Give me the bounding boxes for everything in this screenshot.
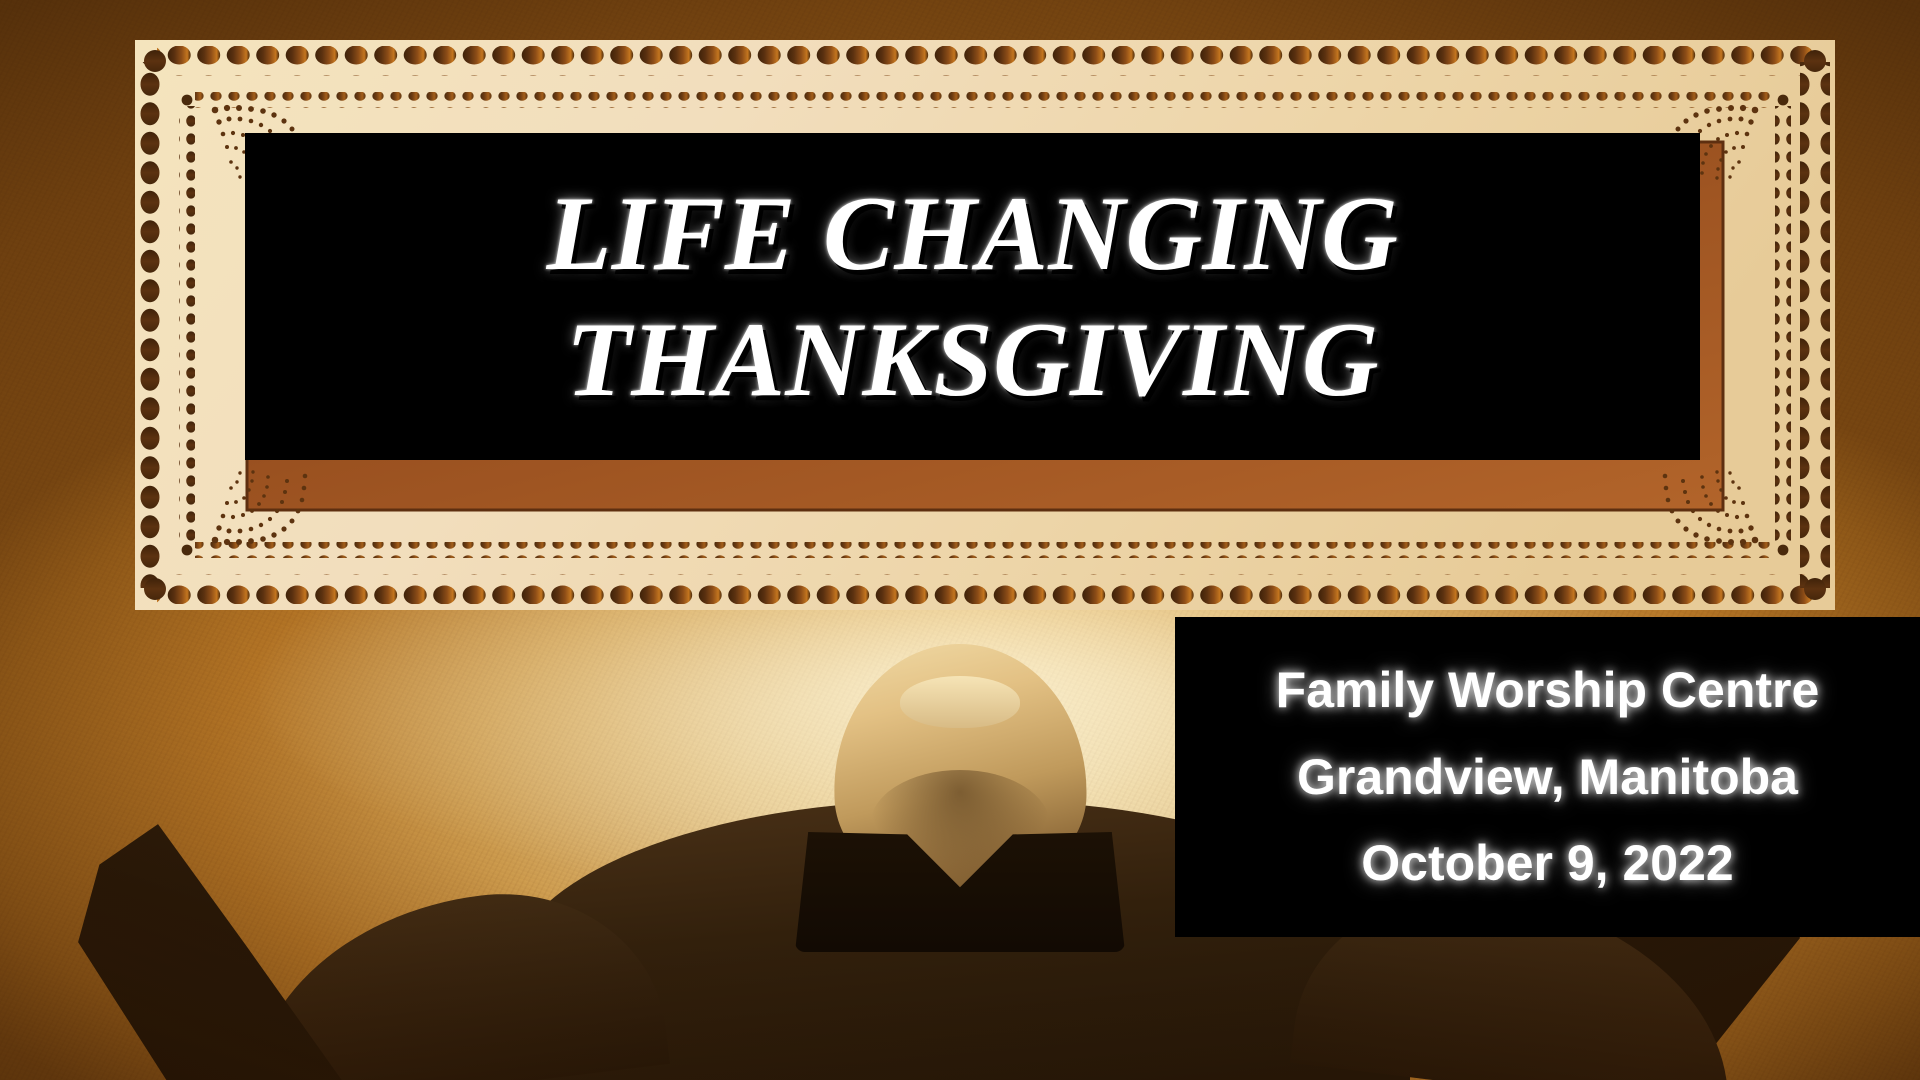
title-text-box: LIFE CHANGING THANKSGIVING: [245, 133, 1700, 460]
subtitle-organization: Family Worship Centre: [1276, 663, 1820, 718]
title-slide: LIFE CHANGING THANKSGIVING Family Worshi…: [0, 0, 1920, 1080]
subtitle-date: October 9, 2022: [1361, 836, 1733, 891]
subtitle-text-box: Family Worship Centre Grandview, Manitob…: [1175, 617, 1920, 937]
title-line-1: LIFE CHANGING: [547, 171, 1399, 296]
title-line-2: THANKSGIVING: [566, 297, 1379, 422]
subtitle-location: Grandview, Manitoba: [1297, 750, 1798, 805]
